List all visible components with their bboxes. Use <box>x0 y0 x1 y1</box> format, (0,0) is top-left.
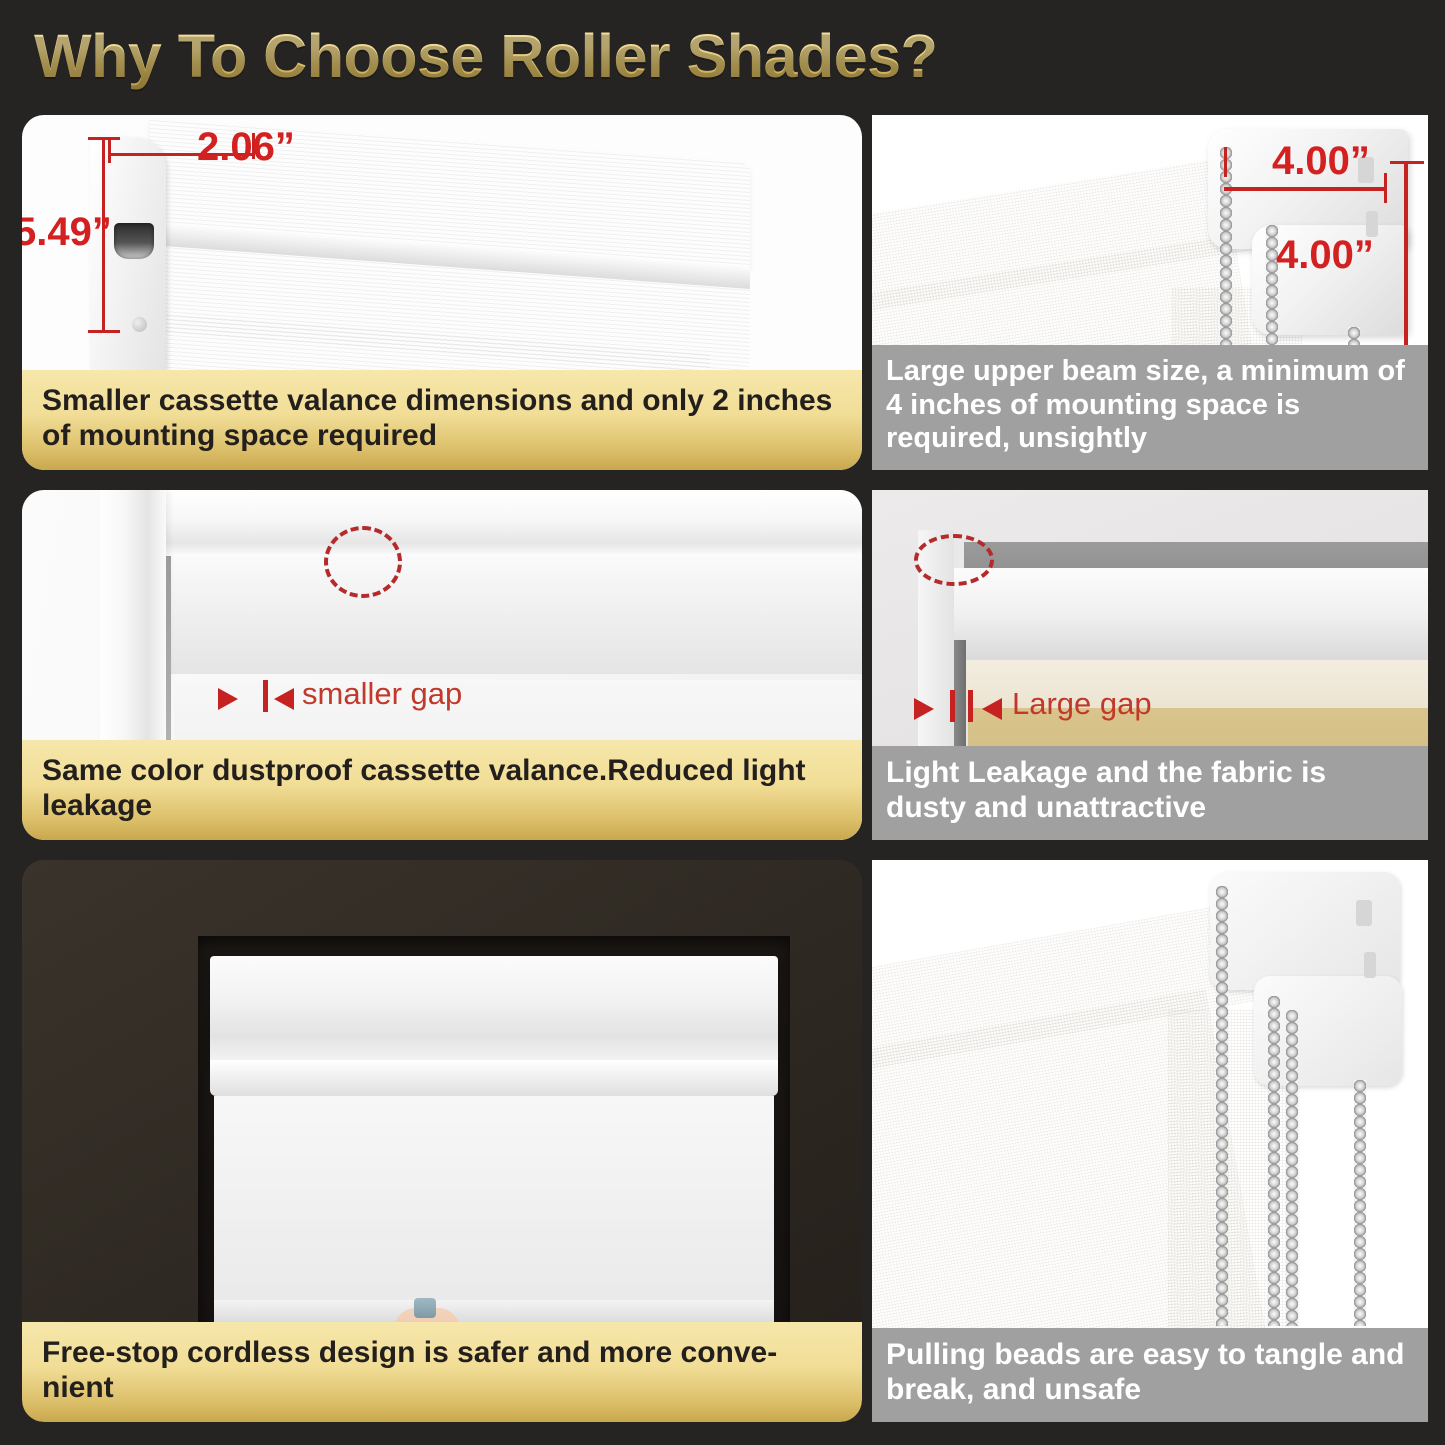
cassette-valance <box>210 956 778 1068</box>
dimension-label-height: 5.49” <box>22 210 112 255</box>
dim-top-tick-right <box>1384 173 1387 203</box>
panel-1-caption: Smaller cassette valance dimensions and … <box>22 370 862 470</box>
panel-5-caption: Free-stop cordless design is safer and m… <box>22 1322 862 1422</box>
panel-3-caption: Same color dustproof cassette valance.Re… <box>22 740 862 840</box>
valance-lip <box>210 1060 778 1096</box>
dim-side-tick-top <box>1390 161 1424 164</box>
dim-height-tick-bottom <box>88 330 120 333</box>
panel-large-upper-beam: 4.00” 4.00” Large upper beam size, a min… <box>872 115 1428 470</box>
gap-marker-line-1 <box>950 690 955 722</box>
gap-arrow-right-icon <box>982 698 1002 720</box>
cassette-valance <box>170 556 862 674</box>
gap-arrow-left-icon <box>914 698 934 720</box>
panel-2-caption: Large upper beam size, a minimum of 4 in… <box>872 345 1428 470</box>
highlight-circle-gap <box>914 534 994 586</box>
dim-height-tick-top <box>88 137 120 140</box>
bead-chain-mid <box>1268 996 1280 1326</box>
valance-slot <box>114 223 154 259</box>
gap-arrow-right-icon <box>274 688 294 710</box>
gap-callout-label: smaller gap <box>302 676 462 712</box>
gap-marker-line-2 <box>968 690 973 722</box>
panel-6-caption: Pulling beads are easy to tangle and bre… <box>872 1328 1428 1422</box>
dim-top-tick-left <box>1224 147 1227 177</box>
panel-large-gap: Large gap Light Leakage and the fabric i… <box>872 490 1428 840</box>
gap-arrow-left-icon <box>218 688 238 710</box>
highlight-circle-gap <box>324 526 402 598</box>
panel-smaller-gap: smaller gap Same color dustproof cassett… <box>22 490 862 840</box>
dim-side-line <box>1404 161 1408 351</box>
bead-chain-left <box>1216 886 1228 1326</box>
gap-callout-label: Large gap <box>1012 686 1152 722</box>
valance-screw <box>132 317 147 332</box>
dimension-label-width: 2.06” <box>197 125 295 170</box>
bracket-notch-top <box>1356 900 1372 926</box>
bead-chain-mid2 <box>1286 1010 1298 1326</box>
page-title-bar: Why To Choose Roller Shades? <box>0 0 1445 112</box>
dimension-label-beam-width: 4.00” <box>1272 139 1370 184</box>
bracket-notch-mid <box>1364 952 1376 978</box>
pull-tab <box>414 1298 436 1318</box>
upper-beam-valance <box>954 568 1428 660</box>
panel-cordless-design: Free-stop cordless design is safer and m… <box>22 860 862 1422</box>
gap-marker-line <box>263 680 268 712</box>
shade-fabric <box>214 1096 774 1306</box>
dimension-label-beam-height: 4.00” <box>1276 233 1374 278</box>
dim-width-top-tick-left <box>108 137 111 163</box>
page-title: Why To Choose Roller Shades? <box>34 21 937 91</box>
panel-pulling-beads: Pulling beads are easy to tangle and bre… <box>872 860 1428 1422</box>
window-frame-top <box>100 490 862 556</box>
panel-cassette-dimensions: 2.06” 5.49” Smaller cassette valance dim… <box>22 115 862 470</box>
bead-chain-right <box>1354 1080 1366 1326</box>
panel-4-caption: Light Leakage and the fabric is dusty an… <box>872 746 1428 840</box>
dim-top-line <box>1224 187 1386 191</box>
shade-hem-bar <box>214 1300 774 1322</box>
